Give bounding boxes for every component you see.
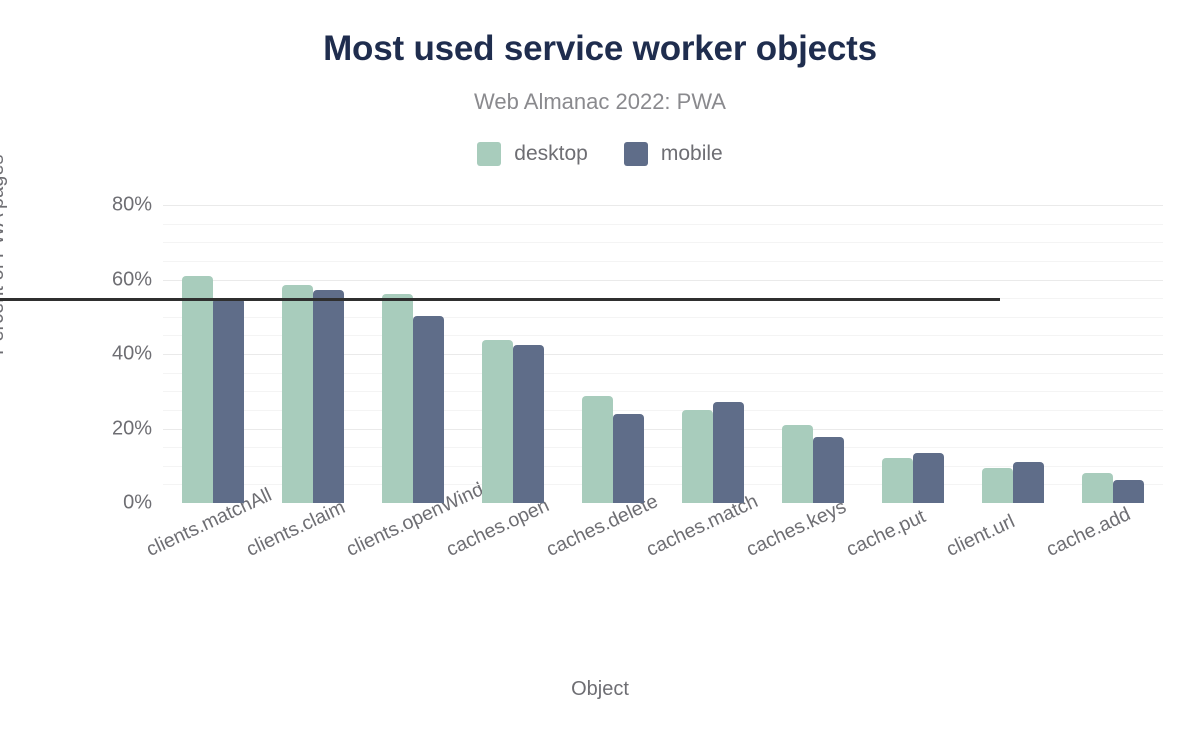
x-tick-label: cache.put bbox=[843, 505, 929, 562]
y-tick-label: 0% bbox=[32, 492, 152, 515]
plot-area bbox=[163, 205, 1163, 503]
y-tick-label: 20% bbox=[32, 417, 152, 440]
bar-desktop[interactable] bbox=[482, 340, 513, 503]
chart-title: Most used service worker objects bbox=[0, 30, 1200, 69]
bar-group bbox=[782, 205, 844, 503]
bar-mobile[interactable] bbox=[613, 414, 644, 503]
bar-mobile[interactable] bbox=[313, 290, 344, 503]
y-tick-label: 60% bbox=[32, 268, 152, 291]
bar-group bbox=[682, 205, 744, 503]
y-axis-label: Percent of PWA pages bbox=[0, 155, 9, 355]
chart-figure: Most used service worker objects Web Alm… bbox=[0, 0, 1200, 742]
bar-mobile[interactable] bbox=[713, 402, 744, 503]
y-tick-label: 40% bbox=[32, 343, 152, 366]
bar-group bbox=[582, 205, 644, 503]
bar-mobile[interactable] bbox=[213, 298, 244, 503]
legend-item-mobile[interactable]: mobile bbox=[624, 142, 723, 166]
legend-item-desktop[interactable]: desktop bbox=[477, 142, 588, 166]
bar-mobile[interactable] bbox=[513, 345, 544, 503]
bar-mobile[interactable] bbox=[413, 316, 444, 503]
bar-desktop[interactable] bbox=[682, 410, 713, 503]
bar-desktop[interactable] bbox=[582, 396, 613, 503]
bar-desktop[interactable] bbox=[282, 285, 313, 503]
y-tick-label: 80% bbox=[32, 194, 152, 217]
x-tick-label: client.url bbox=[943, 510, 1019, 562]
bar-desktop[interactable] bbox=[382, 294, 413, 503]
chart-subtitle: Web Almanac 2022: PWA bbox=[0, 89, 1200, 115]
x-tick-label: cache.add bbox=[1043, 503, 1134, 562]
bar-desktop[interactable] bbox=[982, 468, 1013, 503]
bar-mobile[interactable] bbox=[1113, 480, 1144, 503]
bar-group bbox=[482, 205, 544, 503]
bar-desktop[interactable] bbox=[182, 276, 213, 503]
bar-mobile[interactable] bbox=[813, 437, 844, 503]
bar-desktop[interactable] bbox=[882, 458, 913, 503]
legend-swatch-mobile bbox=[624, 142, 648, 166]
bar-group bbox=[1082, 205, 1144, 503]
x-axis-line bbox=[0, 298, 1000, 301]
bar-group bbox=[282, 205, 344, 503]
bar-group bbox=[382, 205, 444, 503]
bar-mobile[interactable] bbox=[1013, 462, 1044, 503]
bar-group bbox=[882, 205, 944, 503]
chart-legend: desktopmobile bbox=[0, 142, 1200, 166]
bar-desktop[interactable] bbox=[1082, 473, 1113, 503]
bar-desktop[interactable] bbox=[782, 425, 813, 503]
legend-swatch-desktop bbox=[477, 142, 501, 166]
bar-group bbox=[982, 205, 1044, 503]
bar-mobile[interactable] bbox=[913, 453, 944, 503]
bar-group bbox=[182, 205, 244, 503]
legend-label: desktop bbox=[514, 142, 588, 166]
legend-label: mobile bbox=[661, 142, 723, 166]
x-axis-label: Object bbox=[0, 678, 1200, 701]
